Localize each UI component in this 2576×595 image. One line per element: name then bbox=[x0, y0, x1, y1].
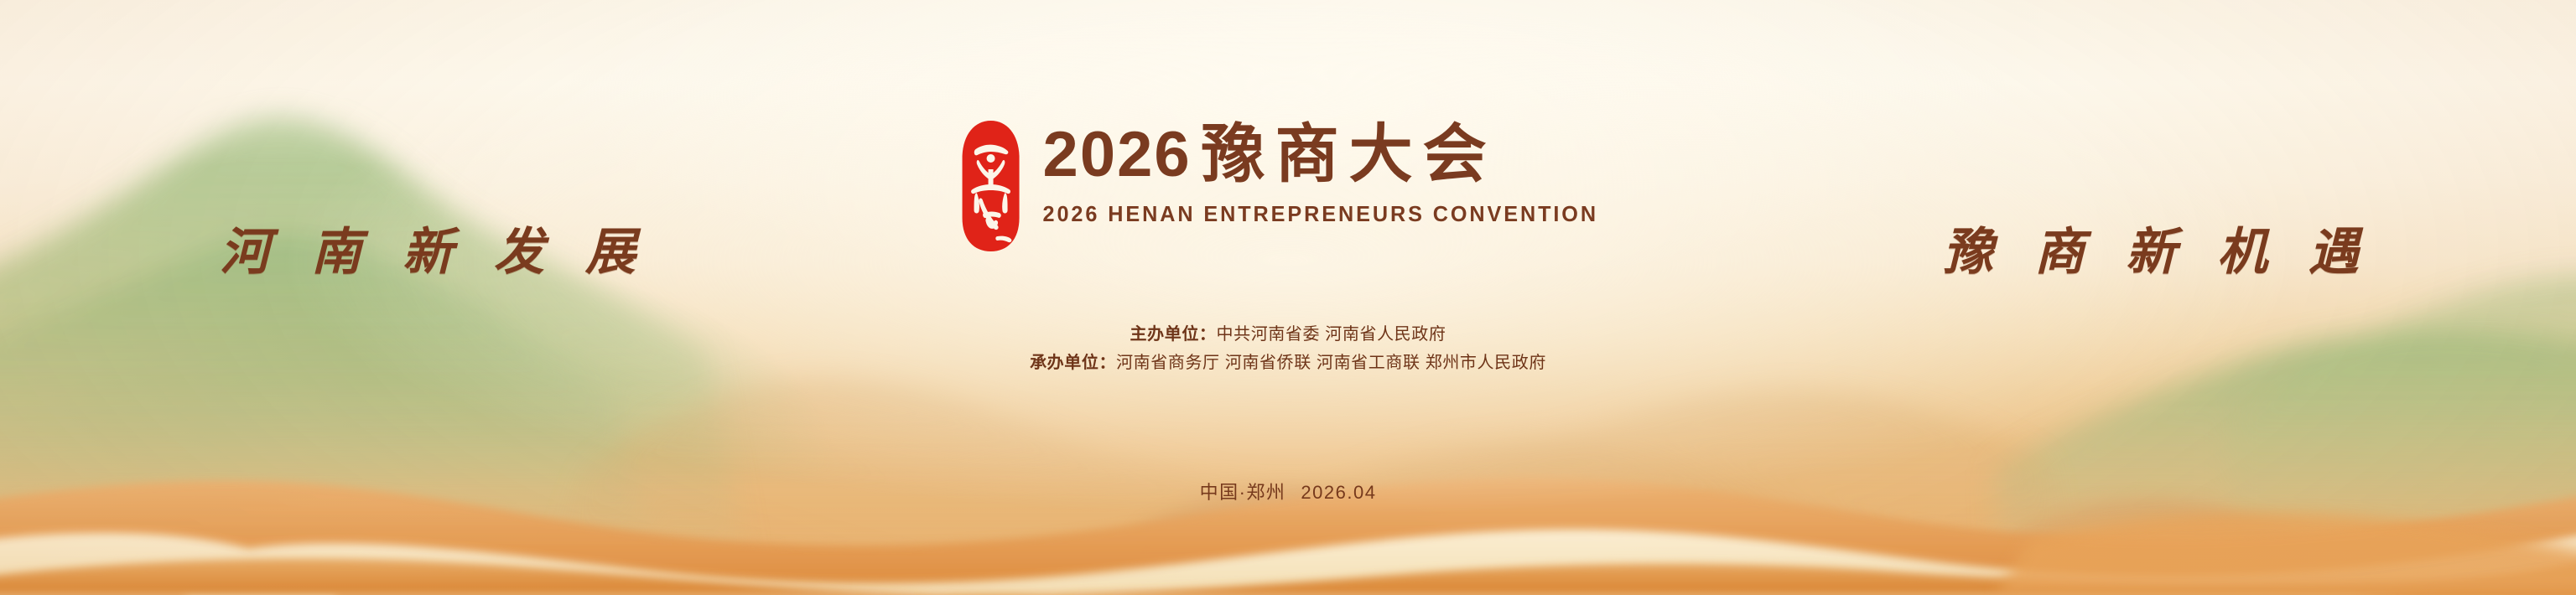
banner-content: 河 南 新 发 展 豫 商 新 机 遇 bbox=[0, 0, 2576, 595]
title-year: 2026 bbox=[1043, 119, 1192, 190]
event-banner: 河 南 新 发 展 豫 商 新 机 遇 bbox=[0, 0, 2576, 595]
event-date: 2026.04 bbox=[1301, 482, 1376, 503]
logo-lockup: 2026豫商大会 2026 HENAN ENTREPRENEURS CONVEN… bbox=[961, 119, 1616, 253]
organizer-label-host: 主办单位： bbox=[1130, 325, 1217, 344]
slogan-right: 豫 商 新 机 遇 bbox=[1943, 211, 2373, 284]
organizer-line-coorganizer: 承办单位：河南省商务厅 河南省侨联 河南省工商联 郑州市人民政府 bbox=[1030, 349, 1546, 377]
organizer-label-coorganizer: 承办单位： bbox=[1030, 354, 1116, 372]
title-chinese: 豫商大会 bbox=[1202, 119, 1497, 190]
organizer-value-coorganizer: 河南省商务厅 河南省侨联 河南省工商联 郑州市人民政府 bbox=[1116, 354, 1546, 372]
event-place-date: 中国·郑州2026.04 bbox=[1200, 478, 1377, 504]
title-column: 2026豫商大会 2026 HENAN ENTREPRENEURS CONVEN… bbox=[1043, 119, 1616, 227]
slogan-left: 河 南 新 发 展 bbox=[220, 211, 650, 284]
yu-seal-stamp-icon bbox=[961, 119, 1021, 253]
title-english-subtitle: 2026 HENAN ENTREPRENEURS CONVENTION bbox=[1043, 201, 1598, 227]
organizers-block: 主办单位：中共河南省委 河南省人民政府 承办单位：河南省商务厅 河南省侨联 河南… bbox=[1030, 320, 1546, 377]
organizer-value-host: 中共河南省委 河南省人民政府 bbox=[1217, 325, 1446, 344]
event-location: 中国·郑州 bbox=[1200, 482, 1286, 503]
organizer-line-host: 主办单位：中共河南省委 河南省人民政府 bbox=[1030, 320, 1546, 349]
page-title: 2026豫商大会 bbox=[1043, 119, 1497, 191]
